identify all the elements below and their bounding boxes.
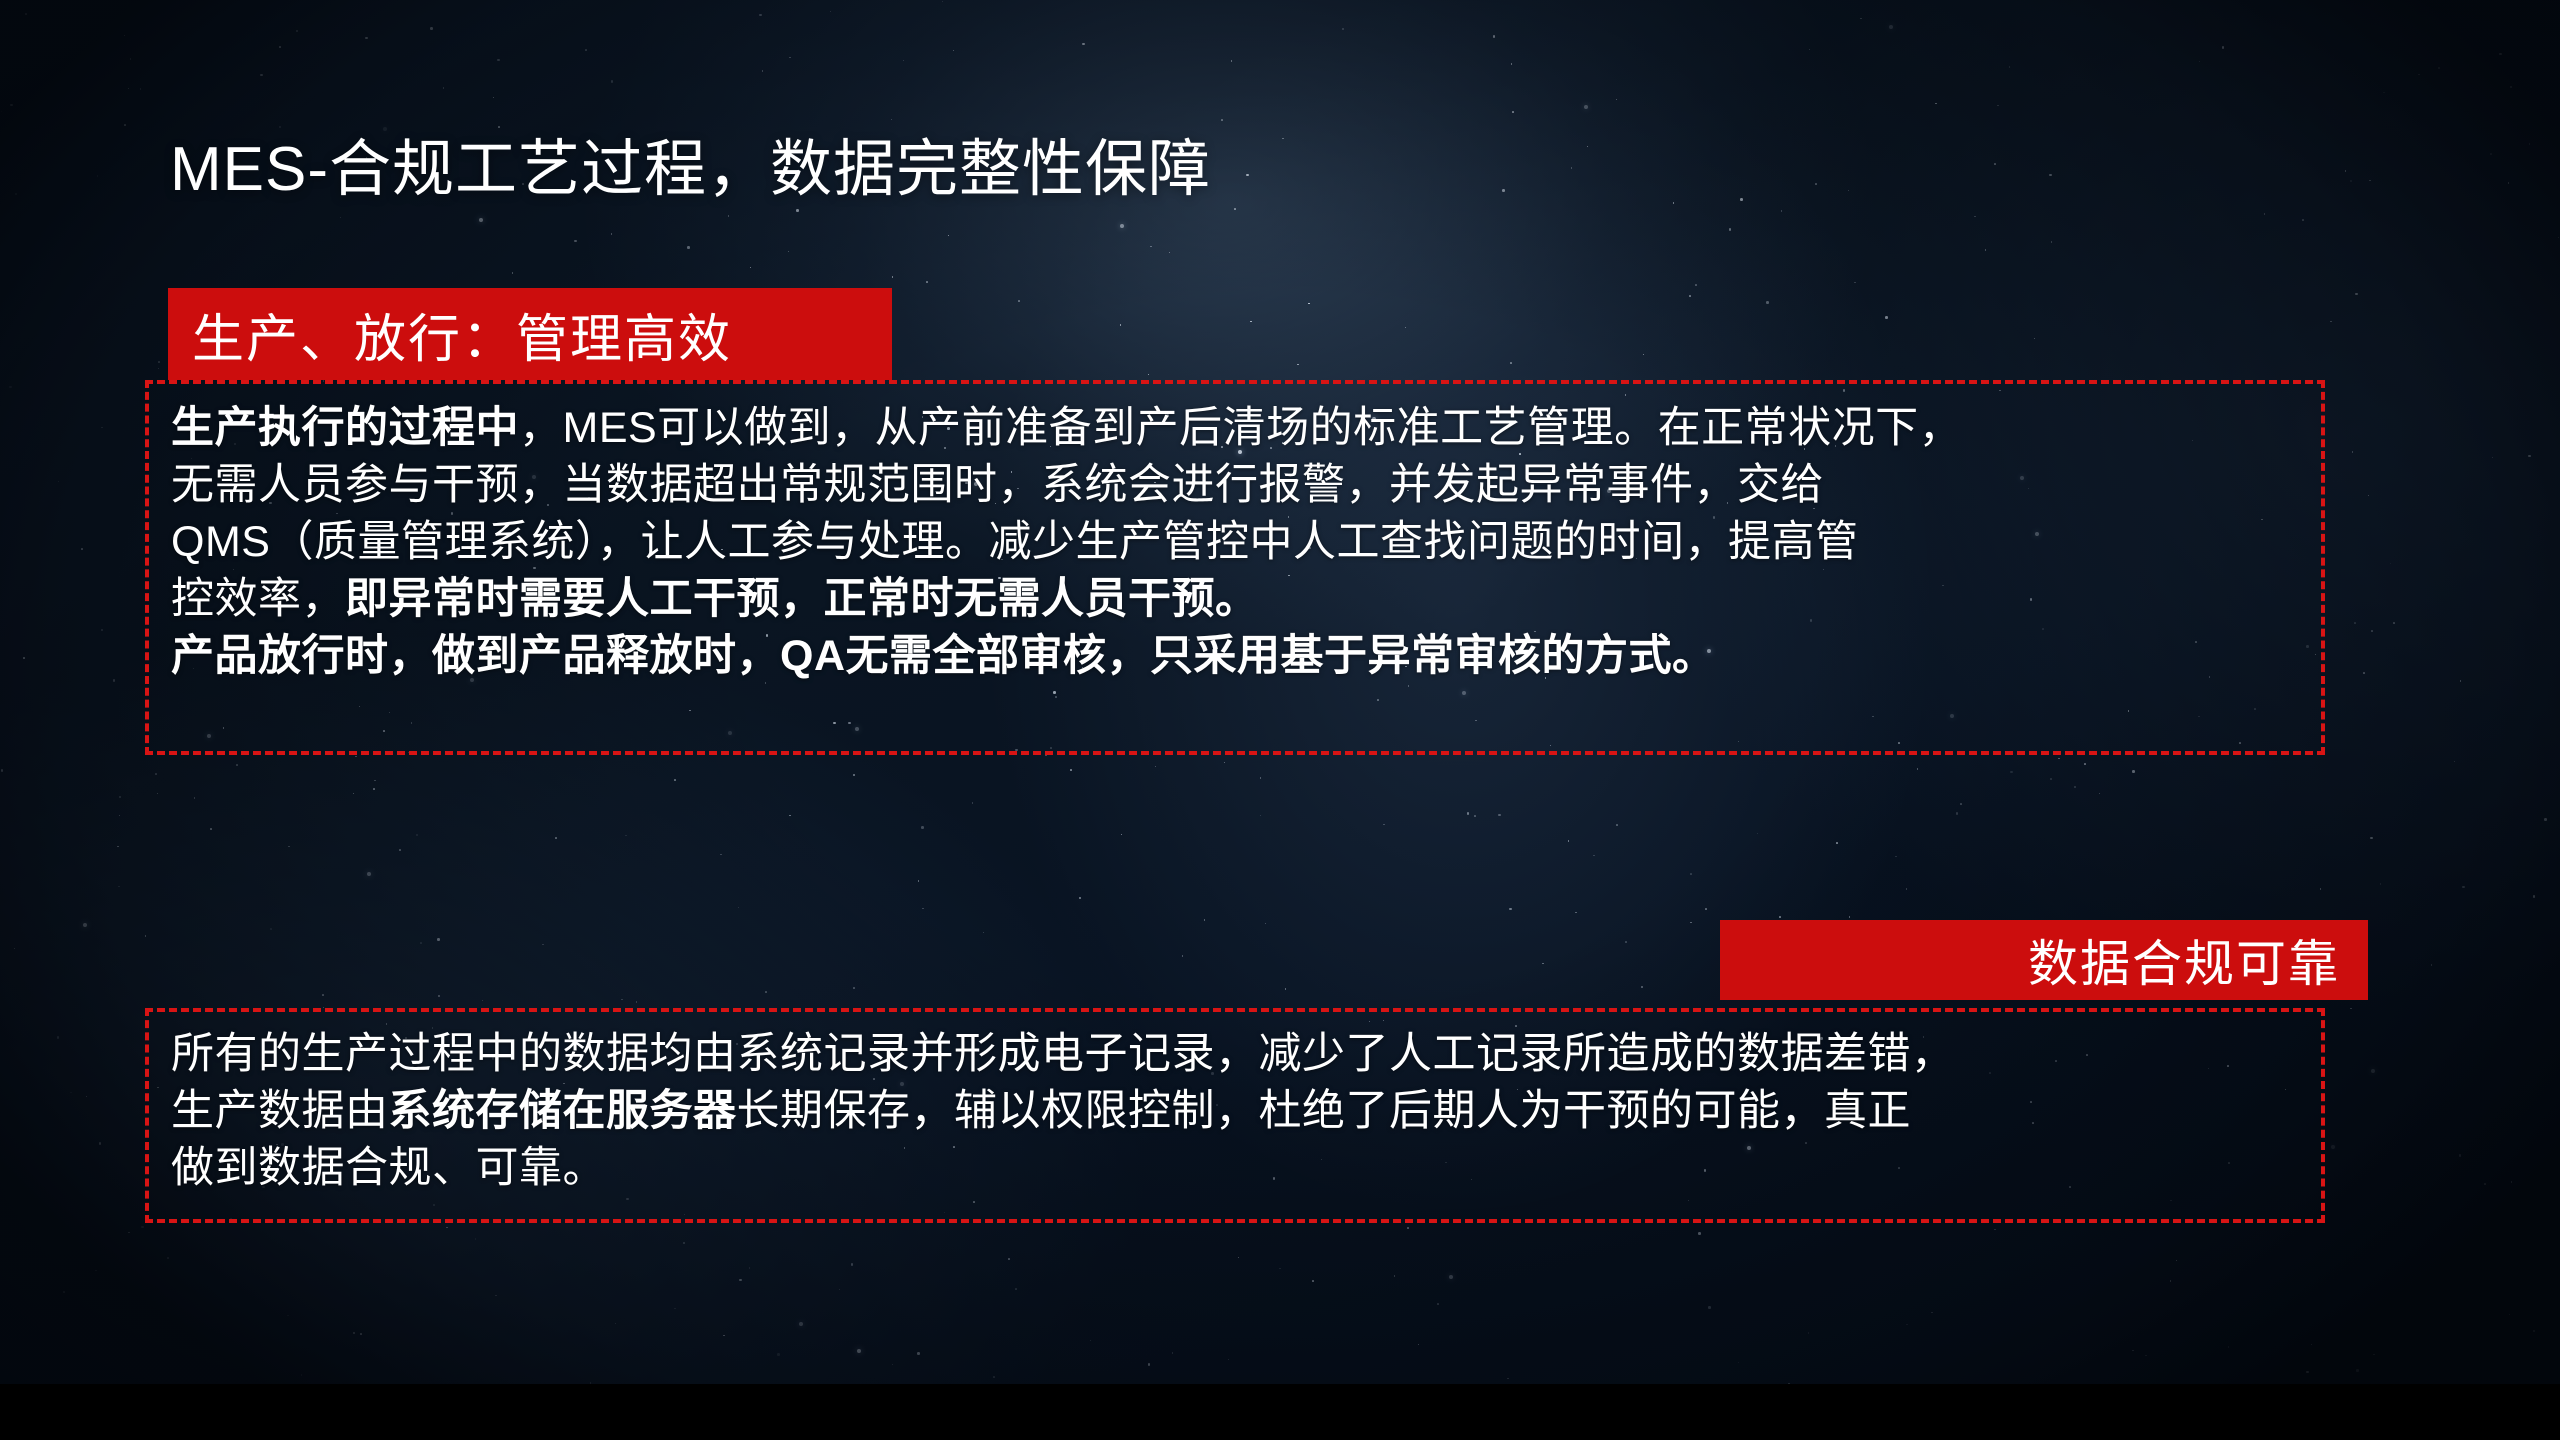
- content-box-production: 生产执行的过程中，MES可以做到，从产前准备到产后清场的标准工艺管理。在正常状况…: [145, 380, 2325, 755]
- section-banner-production: 生产、放行：管理高效: [168, 288, 892, 380]
- text-line: 产品放行时，做到产品释放时，QA无需全部审核，只采用基于异常审核的方式。: [171, 628, 2295, 685]
- text-segment: 所有的生产过程中的数据均由系统记录并形成电子记录，减少了人工记录所造成的数据差错…: [171, 1030, 1955, 1078]
- text-segment: 无需人员参与干预，当数据超出常规范围时，系统会进行报警，并发起异常事件，交给: [171, 461, 1824, 509]
- text-segment-bold: 生产执行的过程中: [171, 404, 519, 452]
- text-line: 所有的生产过程中的数据均由系统记录并形成电子记录，减少了人工记录所造成的数据差错…: [171, 1026, 2295, 1083]
- text-line: 生产数据由系统存储在服务器长期保存，辅以权限控制，杜绝了后期人为干预的可能，真正: [171, 1083, 2295, 1140]
- content-box-data: 所有的生产过程中的数据均由系统记录并形成电子记录，减少了人工记录所造成的数据差错…: [145, 1008, 2325, 1223]
- text-segment: 做到数据合规、可靠。: [171, 1144, 606, 1192]
- text-segment: 生产数据由: [171, 1087, 389, 1135]
- banner-label-data: 数据合规可靠: [2028, 924, 2340, 996]
- presentation-slide: MES-合规工艺过程，数据完整性保障 生产、放行：管理高效 生产执行的过程中，M…: [0, 0, 2560, 1440]
- text-segment-bold: 产品放行时，做到产品释放时，QA无需全部审核，只采用基于异常审核的方式。: [171, 632, 1716, 680]
- text-line: QMS（质量管理系统），让人工参与处理。减少生产管控中人工查找问题的时间，提高管: [171, 514, 2295, 571]
- text-segment: ，MES可以做到，从产前准备到产后清场的标准工艺管理。在正常状况下，: [519, 404, 1962, 452]
- text-line: 生产执行的过程中，MES可以做到，从产前准备到产后清场的标准工艺管理。在正常状况…: [171, 400, 2295, 457]
- paragraph-data: 所有的生产过程中的数据均由系统记录并形成电子记录，减少了人工记录所造成的数据差错…: [171, 1026, 2295, 1197]
- text-segment: 长期保存，辅以权限控制，杜绝了后期人为干预的可能，真正: [737, 1087, 1912, 1135]
- text-segment-bold: 系统存储在服务器: [389, 1087, 737, 1135]
- paragraph-production: 生产执行的过程中，MES可以做到，从产前准备到产后清场的标准工艺管理。在正常状况…: [171, 400, 2295, 685]
- text-line: 无需人员参与干预，当数据超出常规范围时，系统会进行报警，并发起异常事件，交给: [171, 457, 2295, 514]
- text-line: 做到数据合规、可靠。: [171, 1140, 2295, 1197]
- banner-label-production: 生产、放行：管理高效: [192, 297, 732, 372]
- text-segment: QMS（质量管理系统），让人工参与处理。减少生产管控中人工查找问题的时间，提高管: [171, 518, 1858, 566]
- section-banner-data: 数据合规可靠: [1720, 920, 2368, 1000]
- text-segment: 控效率，: [171, 575, 345, 623]
- text-line: 控效率，即异常时需要人工干预，正常时无需人员干预。: [171, 571, 2295, 628]
- page-title: MES-合规工艺过程，数据完整性保障: [170, 118, 1211, 208]
- text-segment-bold: 即异常时需要人工干预，正常时无需人员干预。: [345, 575, 1259, 623]
- bottom-black-strip: [0, 1384, 2560, 1440]
